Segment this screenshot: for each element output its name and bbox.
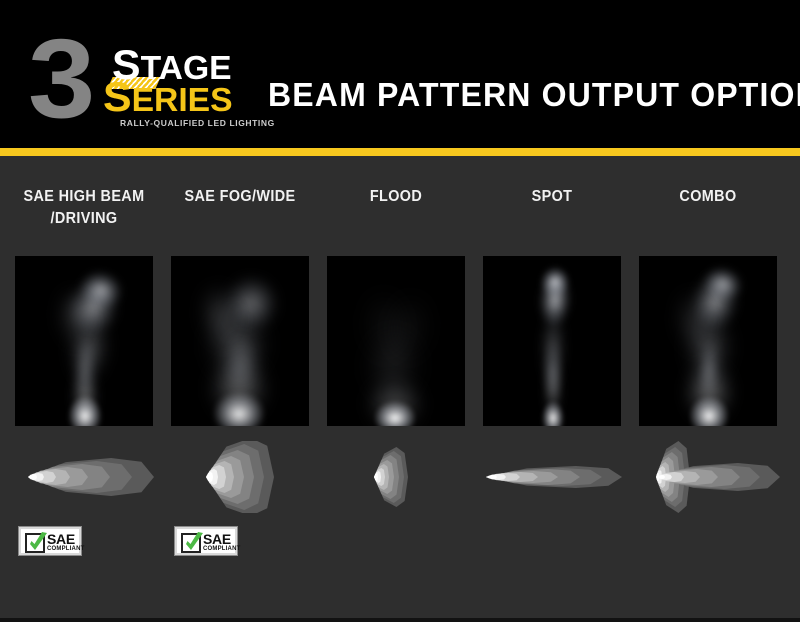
column-label-combo: COMBO xyxy=(635,186,780,208)
logo-series-cap: S xyxy=(103,73,132,120)
beam-photo-combo[interactable] xyxy=(639,256,777,426)
light-pool xyxy=(72,366,98,426)
header-bar: 3 STAGE SERIES RALLY-QUALIFIED LED LIGHT… xyxy=(0,0,800,148)
logo-tagline: RALLY-QUALIFIED LED LIGHTING xyxy=(120,118,275,128)
beam-pattern-diagram xyxy=(630,441,786,513)
beam-columns-grid: SAE HIGH BEAM/DRIVINGSAECOMPLIANTSAE FOG… xyxy=(0,156,800,612)
light-pool xyxy=(374,401,416,426)
badge-inner: SAECOMPLIANT xyxy=(177,529,235,553)
column-label-sae-high-beam-driving: SAE HIGH BEAM/DRIVING xyxy=(11,186,156,230)
light-pool xyxy=(684,361,734,423)
logo-series-rest: ERIES xyxy=(132,81,233,118)
light-streak xyxy=(54,286,96,350)
beam-column-spot[interactable]: SPOT xyxy=(474,156,630,612)
beam-diagram-flood xyxy=(318,441,474,513)
light-pool xyxy=(209,356,269,420)
light-streak xyxy=(685,310,734,386)
beam-column-combo[interactable]: COMBO xyxy=(630,156,786,612)
light-streak xyxy=(699,339,719,402)
beam-layer xyxy=(206,472,213,482)
light-streak xyxy=(65,311,112,385)
light-streak xyxy=(365,291,406,360)
beam-layer xyxy=(374,473,378,481)
page-title: BEAM PATTERN OUTPUT OPTIONS xyxy=(268,76,800,114)
light-streak xyxy=(543,311,562,385)
beam-pattern-diagram xyxy=(6,441,162,513)
beam-pattern-diagram xyxy=(162,441,318,513)
beam-diagram-sae-fog-wide xyxy=(162,441,318,513)
badge-subtitle: COMPLIANT xyxy=(203,546,240,553)
badge-title: SAE xyxy=(47,532,75,546)
light-streak xyxy=(195,281,247,352)
beam-diagram-sae-high-beam-driving xyxy=(6,441,162,513)
checkbox-outline xyxy=(181,533,201,553)
column-label-line1: SAE HIGH BEAM xyxy=(11,186,156,208)
beam-pattern-diagram xyxy=(318,441,474,513)
beam-photo-sae-high-beam-driving[interactable] xyxy=(15,256,153,426)
badge-inner: SAECOMPLIANT xyxy=(21,529,79,553)
light-pool xyxy=(68,396,102,426)
beam-pattern-infographic: 3 STAGE SERIES RALLY-QUALIFIED LED LIGHT… xyxy=(0,0,800,622)
light-streak xyxy=(73,338,96,399)
beam-photo-flood[interactable] xyxy=(327,256,465,426)
light-streak xyxy=(367,330,419,402)
column-label-line1: FLOOD xyxy=(323,186,468,208)
light-pool xyxy=(689,396,729,426)
light-streak xyxy=(76,267,126,313)
logo-numeral-3: 3 xyxy=(28,26,89,132)
light-pool xyxy=(367,379,423,426)
light-streak xyxy=(688,271,741,334)
light-streak xyxy=(547,342,559,402)
badge-title: SAE xyxy=(203,532,231,546)
light-streak xyxy=(389,294,429,361)
accent-divider-bar xyxy=(0,148,800,156)
sae-compliant-badge: SAECOMPLIANT xyxy=(18,526,82,556)
beam-column-flood[interactable]: FLOOD xyxy=(318,156,474,612)
beam-diagram-combo xyxy=(630,441,786,513)
light-streak xyxy=(538,273,572,327)
column-label-sae-fog-wide: SAE FOG/WIDE xyxy=(167,186,312,208)
light-pool xyxy=(213,392,265,426)
brand-logo: 3 STAGE SERIES RALLY-QUALIFIED LED LIGHT… xyxy=(28,30,253,132)
light-pool xyxy=(546,357,560,419)
light-streak xyxy=(205,307,269,381)
light-pool xyxy=(542,401,564,426)
badge-subtitle: COMPLIANT xyxy=(47,546,84,553)
column-label-line1: COMBO xyxy=(635,186,780,208)
bottom-edge xyxy=(0,618,800,622)
light-streak xyxy=(65,278,121,338)
logo-word-series: SERIES xyxy=(103,80,233,116)
column-label-flood: FLOOD xyxy=(323,186,468,208)
beam-layer xyxy=(28,474,37,480)
sae-compliant-badge: SAECOMPLIANT xyxy=(174,526,238,556)
column-label-line1: SPOT xyxy=(479,186,624,208)
beam-photo-spot[interactable] xyxy=(483,256,621,426)
checkbox-outline xyxy=(25,533,45,553)
beam-column-sae-high-beam-driving[interactable]: SAE HIGH BEAM/DRIVINGSAECOMPLIANT xyxy=(6,156,162,612)
light-streak xyxy=(700,263,745,304)
column-label-spot: SPOT xyxy=(479,186,624,208)
light-streak xyxy=(673,289,717,356)
column-label-line1: SAE FOG/WIDE xyxy=(167,186,312,208)
light-streak xyxy=(540,266,571,299)
light-streak xyxy=(219,272,283,337)
column-label-line2: /DRIVING xyxy=(11,208,156,230)
light-streak xyxy=(222,332,260,396)
beam-layer xyxy=(486,475,497,479)
beam-diagram-spot xyxy=(474,441,630,513)
beam-photo-sae-fog-wide[interactable] xyxy=(171,256,309,426)
beam-pattern-diagram xyxy=(474,441,630,513)
beam-column-sae-fog-wide[interactable]: SAE FOG/WIDESAECOMPLIANT xyxy=(162,156,318,612)
